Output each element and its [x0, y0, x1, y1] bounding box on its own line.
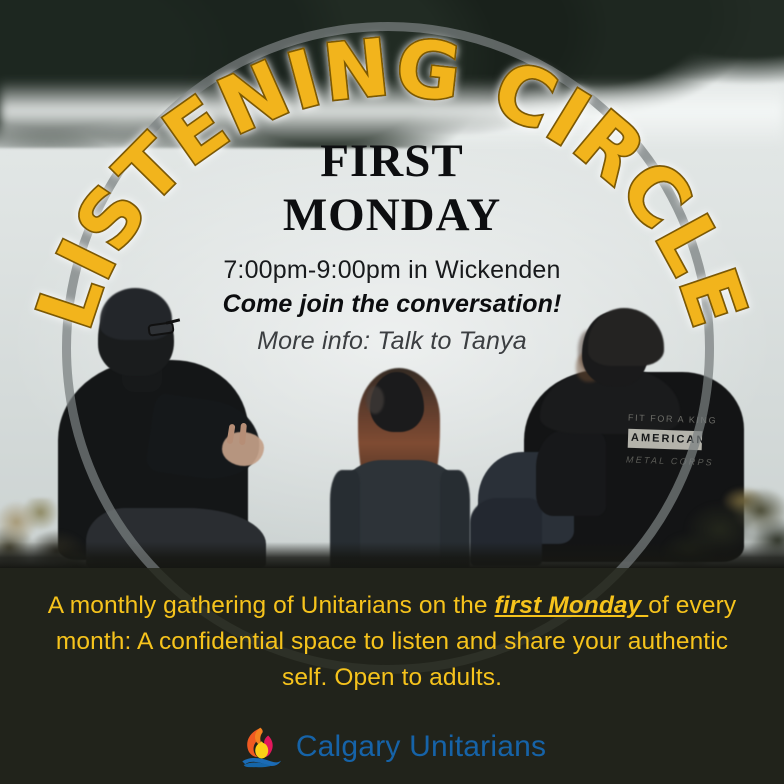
bottom-panel: A monthly gathering of Unitarians on the…	[0, 568, 784, 784]
flaming-chalice-icon	[238, 724, 284, 770]
more-info: More info: Talk to Tanya	[0, 327, 784, 356]
organization-logo[interactable]: Calgary Unitarians	[0, 724, 784, 770]
title-first: FIRST	[0, 134, 784, 188]
title-monday: MONDAY	[0, 188, 784, 242]
poster-canvas: FIT FOR A KING AMERICAN METAL CORPS LIST…	[0, 0, 784, 784]
ground-shadow	[0, 542, 784, 568]
time-location: 7:00pm-9:00pm in Wickenden	[0, 256, 784, 285]
blurb-emphasis: first Monday	[495, 592, 649, 619]
blurb-part-1: A monthly gathering of Unitarians on the	[48, 592, 495, 619]
organization-name: Calgary Unitarians	[296, 730, 546, 764]
center-text-block: FIRST MONDAY 7:00pm-9:00pm in Wickenden …	[0, 134, 784, 356]
hoodie-print-band-text: AMERICAN	[628, 429, 702, 447]
hoodie-print-band: AMERICAN	[628, 429, 703, 451]
description-blurb: A monthly gathering of Unitarians on the…	[0, 568, 784, 696]
call-to-action: Come join the conversation!	[0, 290, 784, 319]
